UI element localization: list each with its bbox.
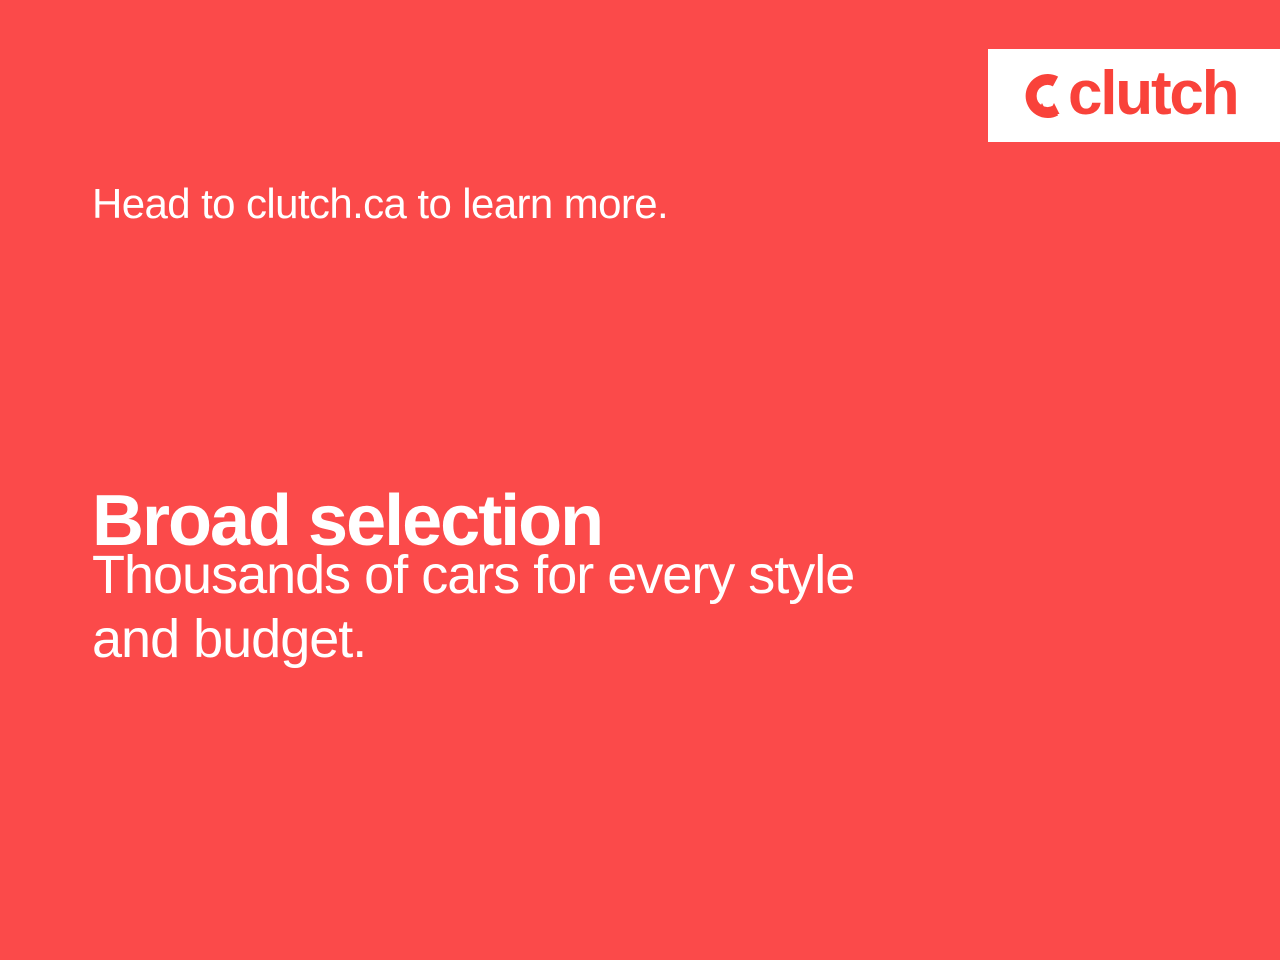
- cta-eyebrow-text: Head to clutch.ca to learn more.: [92, 180, 668, 228]
- subhead: Thousands of cars for every style and bu…: [92, 543, 1052, 671]
- brand-logo-plate: clutch: [988, 49, 1280, 142]
- subhead-line-1: Thousands of cars for every style: [92, 543, 1052, 607]
- brand-wordmark: clutch: [1068, 63, 1237, 125]
- clutch-plate-c-icon: [1020, 70, 1064, 122]
- subhead-line-2: and budget.: [92, 607, 1052, 671]
- brand-logo-lockup[interactable]: clutch: [1020, 65, 1237, 127]
- promo-slide: clutch Head to clutch.ca to learn more. …: [0, 0, 1280, 960]
